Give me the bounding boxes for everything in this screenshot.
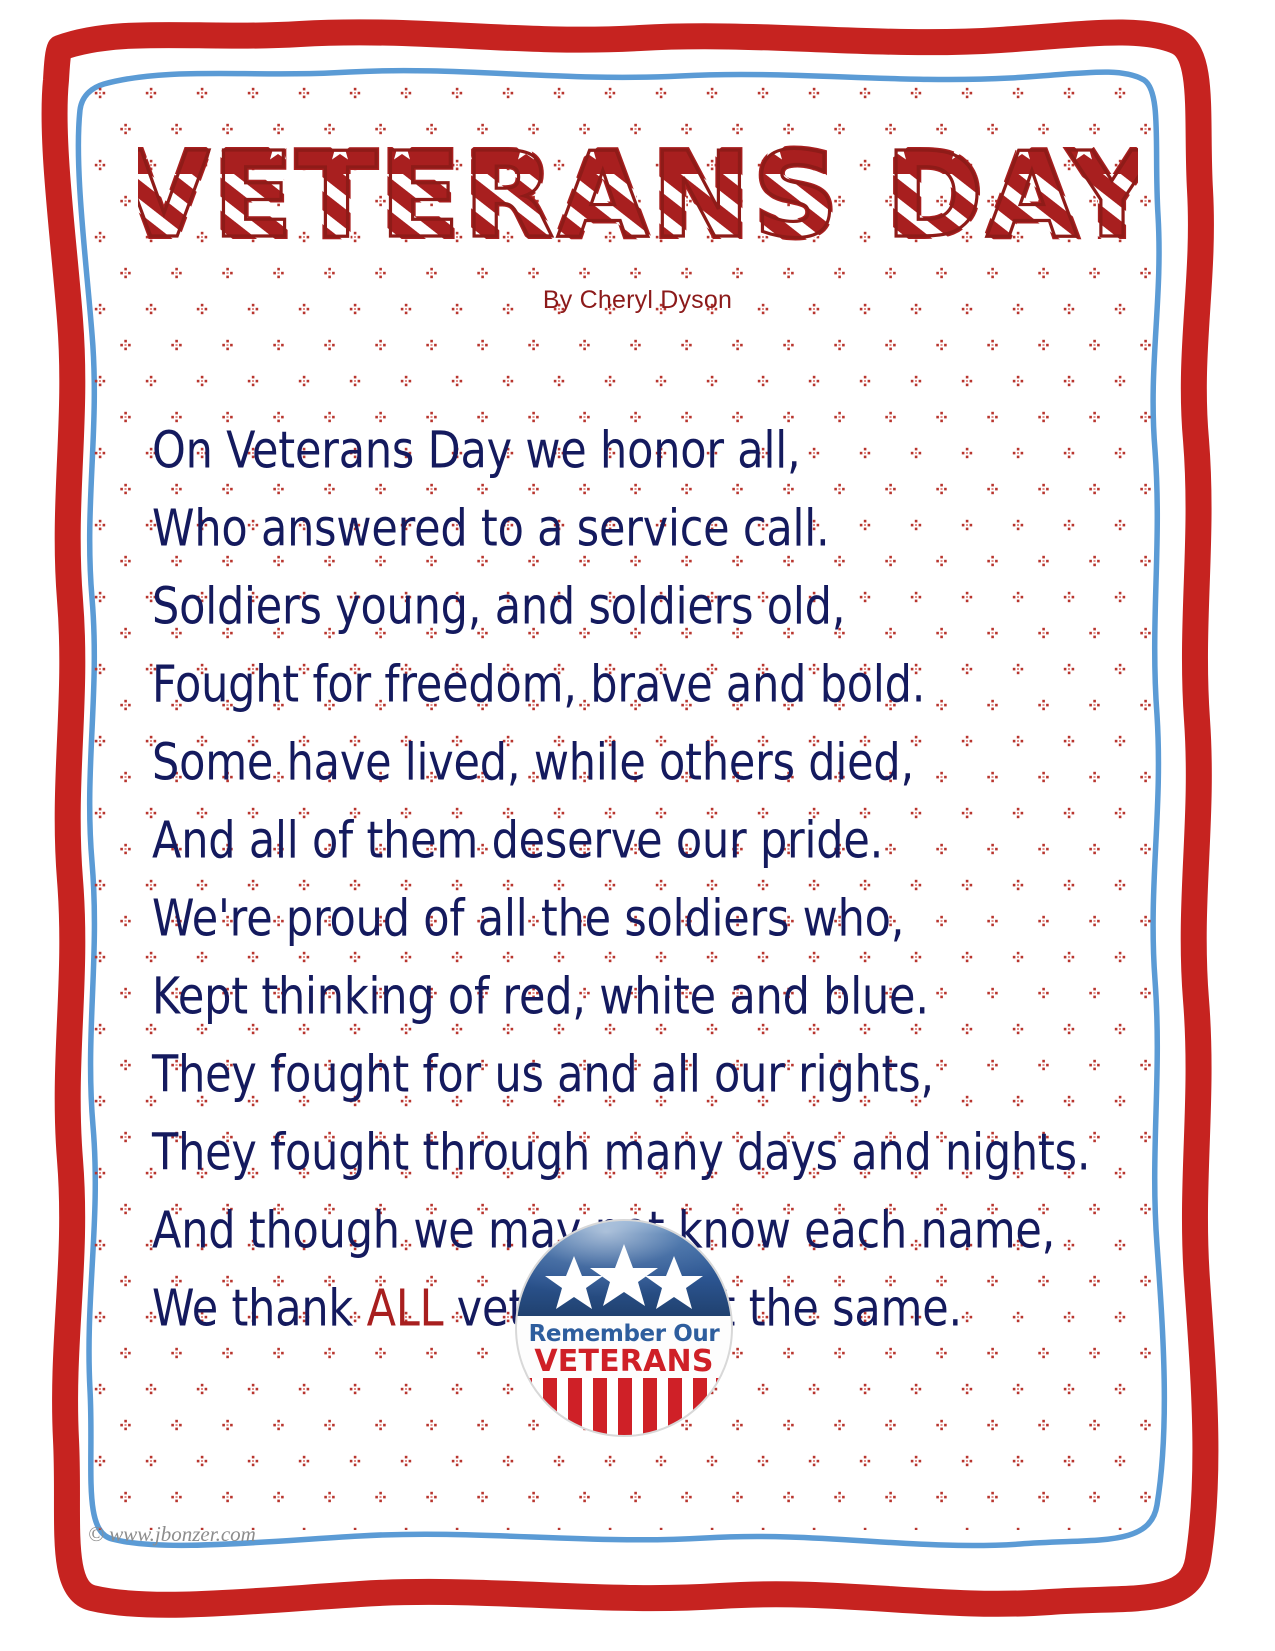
badge-svg: Remember Our VETERANS xyxy=(512,1216,736,1440)
poster-page: VETERANS DAY VETE xyxy=(0,0,1275,1651)
poem-line: Who answered to a service call. xyxy=(152,490,1152,568)
page-title: VETERANS DAY VETE xyxy=(0,132,1275,266)
poem-line: They fought through many days and nights… xyxy=(152,1114,1152,1192)
badge-stripes xyxy=(512,1378,736,1440)
emphasised-word: ALL xyxy=(367,1279,444,1338)
poem-line: And all of them deserve our pride. xyxy=(152,802,1152,880)
poem-line: On Veterans Day we honor all, xyxy=(152,412,1152,490)
poem-line: We're proud of all the soldiers who, xyxy=(152,880,1152,958)
svg-text:VETERANS DAY: VETERANS DAY xyxy=(138,132,1138,262)
poster-content: VETERANS DAY VETE xyxy=(0,0,1275,1651)
poem-line: They fought for us and all our rights, xyxy=(152,1036,1152,1114)
poem-line: Soldiers young, and soldiers old, xyxy=(152,568,1152,646)
poem-line: Fought for freedom, brave and bold. xyxy=(152,646,1152,724)
copyright-credit: © www.jbonzer.com xyxy=(88,1522,256,1547)
byline: By Cheryl Dyson xyxy=(0,286,1275,315)
poem-line: Some have lived, while others died, xyxy=(152,724,1152,802)
veterans-day-title-art: VETERANS DAY VETE xyxy=(138,132,1138,262)
badge-line2-text: VETERANS xyxy=(534,1344,713,1379)
poem-body: On Veterans Day we honor all, Who answer… xyxy=(152,412,1152,1348)
remember-our-veterans-badge: Remember Our VETERANS xyxy=(512,1216,736,1440)
poem-line: Kept thinking of red, white and blue. xyxy=(152,958,1152,1036)
